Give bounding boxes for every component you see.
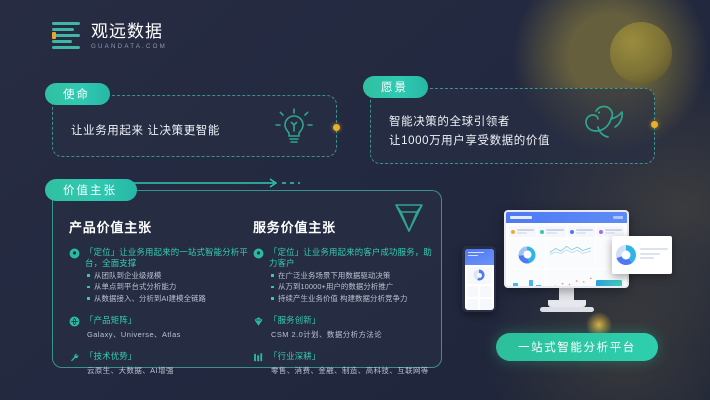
vision-node-dot — [651, 121, 658, 128]
floating-card-legend — [640, 248, 668, 262]
mission-node-dot — [333, 124, 340, 131]
service-industry-head: 「行业深耕」 — [269, 351, 320, 362]
vision-badge: 愿景 — [363, 76, 428, 98]
wrench-icon — [69, 352, 80, 363]
vision-card: 愿景 智能决策的全球引领者 让1000万用户享受数据的价值 — [370, 88, 655, 164]
phone-donut-panel — [467, 267, 492, 284]
dashboard-chart-row-2 — [506, 268, 627, 288]
monitor-base-riser — [548, 300, 586, 307]
service-innovation-items: CSM 2.0计划、数据分析方法论 — [271, 329, 438, 340]
service-group-industry: 「行业深耕」 — [253, 351, 438, 363]
bars-logo-icon — [52, 22, 82, 50]
service-group-positioning: 「定位」让业务用起来的客户成功服务，助力客户 — [253, 247, 438, 268]
logo-accent-dot — [52, 32, 56, 39]
monitor-base — [540, 307, 594, 312]
product-tech-items: 云原生、大数据、AI增强 — [87, 365, 254, 376]
list-item: 持续产生业务价值 构建数据分析竞争力 — [271, 293, 438, 304]
product-column-title: 产品价值主张 — [69, 217, 254, 236]
slide-canvas: 观远数据 GUANDATA.COM 使命 让业务用起来 让决策更智能 愿景 智能… — [0, 0, 710, 400]
mission-card: 使命 让业务用起来 让决策更智能 — [52, 95, 337, 157]
location-pin-icon — [69, 248, 80, 259]
phone-header — [465, 249, 494, 265]
value-proposition-card: 价值主张 产品价值主张 「定位」让业务用起来的一站式智能分析平台，全面支撑 从团… — [52, 190, 442, 368]
dashboard-screen — [504, 210, 629, 288]
industry-icon — [253, 352, 264, 363]
product-group-matrix: 「产品矩阵」 — [69, 315, 254, 327]
product-positioning-subs: 从团队到企业级规模 从单点到平台式分析能力 从数据接入、分析到AI建模全链路 — [87, 270, 254, 304]
service-column-title: 服务价值主张 — [253, 217, 438, 236]
vision-text: 智能决策的全球引领者 让1000万用户享受数据的价值 — [389, 113, 550, 151]
product-matrix-head: 「产品矩阵」 — [85, 315, 136, 326]
dashboard-topbar — [506, 212, 627, 223]
product-value-column: 产品价值主张 「定位」让业务用起来的一站式智能分析平台，全面支撑 从团队到企业级… — [69, 217, 254, 376]
brand-name-en: GUANDATA.COM — [91, 43, 167, 50]
service-industry-items: 零售、消费、金融、制造、高科技、互联网等 — [271, 365, 438, 376]
product-positioning-head: 「定位」让业务用起来的一站式智能分析平台，全面支撑 — [85, 247, 254, 268]
service-group-innovation: 「服务创新」 — [253, 315, 438, 327]
list-item: 从单点到平台式分析能力 — [87, 281, 254, 292]
service-value-column: 服务价值主张 「定位」让业务用起来的客户成功服务，助力客户 在广泛业务场景下用数… — [253, 217, 438, 376]
product-group-positioning: 「定位」让业务用起来的一站式智能分析平台，全面支撑 — [69, 247, 254, 268]
bar-chart-panel — [509, 270, 545, 288]
location-pin-icon — [253, 248, 264, 259]
dashboard-chart-row-1 — [506, 240, 627, 268]
mission-text: 让业务用起来 让决策更智能 — [71, 122, 220, 141]
device-mockup-group — [462, 196, 672, 336]
mission-badge: 使命 — [45, 83, 110, 105]
vision-line-2: 让1000万用户享受数据的价值 — [389, 132, 550, 151]
line-chart-panel — [547, 240, 594, 268]
decorative-sphere — [610, 22, 672, 84]
product-matrix-items: Galaxy、Universe、Atlas — [87, 329, 254, 340]
brand-name-zh: 观远数据 — [91, 23, 167, 40]
service-positioning-head: 「定位」让业务用起来的客户成功服务，助力客户 — [269, 247, 438, 268]
product-matrix-icon — [69, 316, 80, 327]
lightbulb-icon — [272, 104, 316, 150]
platform-label-pill: 一站式智能分析平台 — [496, 333, 658, 361]
service-positioning-subs: 在广泛业务场景下用数据驱动决策 从万到10000+用户的数据分析推广 持续产生业… — [271, 270, 438, 304]
desktop-monitor-mockup — [504, 210, 629, 312]
service-innovation-head: 「服务创新」 — [269, 315, 320, 326]
list-item: 从万到10000+用户的数据分析推广 — [271, 281, 438, 292]
list-item: 在广泛业务场景下用数据驱动决策 — [271, 270, 438, 281]
floating-donut-chart — [616, 245, 636, 265]
vision-line-1: 智能决策的全球引领者 — [389, 113, 550, 132]
brand-logo: 观远数据 GUANDATA.COM — [52, 22, 167, 50]
product-tech-head: 「技术优势」 — [85, 351, 136, 362]
value-badge: 价值主张 — [45, 179, 137, 201]
list-item: 从数据接入、分析到AI建模全链路 — [87, 293, 254, 304]
floating-chart-card — [612, 236, 672, 274]
service-innovation-icon — [253, 316, 264, 327]
phone-stat-grid — [467, 286, 492, 310]
dashboard-kpi-row — [506, 223, 627, 240]
donut-chart-panel — [509, 240, 545, 268]
product-group-tech: 「技术优势」 — [69, 351, 254, 363]
mobile-phone-mockup — [462, 246, 496, 312]
dove-icon — [582, 97, 634, 145]
list-item: 从团队到企业级规模 — [87, 270, 254, 281]
